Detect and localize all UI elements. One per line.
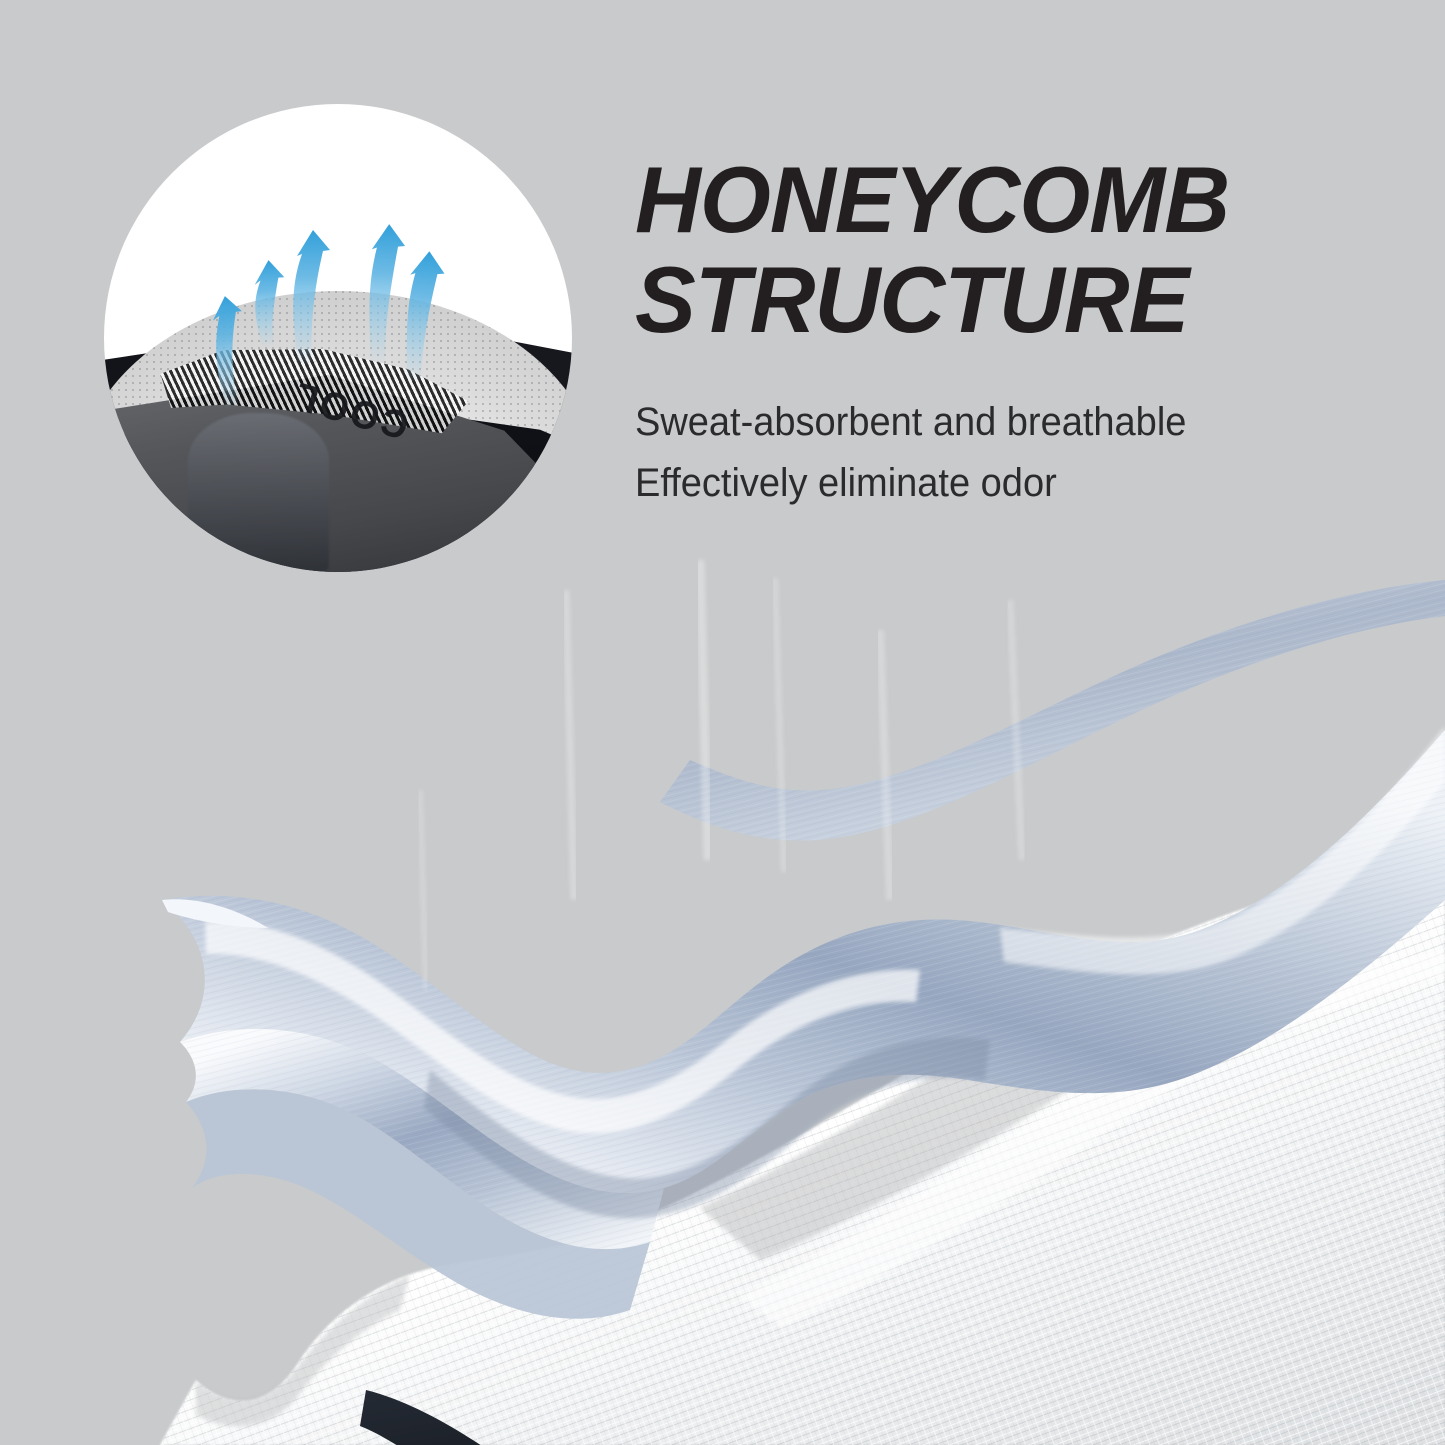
airflow-arrow-5 xyxy=(401,250,446,384)
airflow-arrow-4 xyxy=(366,223,406,366)
airflow-arrow-2 xyxy=(253,259,288,348)
page-title-line2: STRUCTURE xyxy=(635,252,1382,348)
airflow-arrow-1 xyxy=(209,294,254,409)
fabric-illustration xyxy=(0,430,1445,1445)
airflow-arrow-3 xyxy=(293,230,330,365)
fabric-waves-svg xyxy=(0,430,1445,1445)
product-feature-banner: COOL xyxy=(0,0,1445,1445)
page-title-line1: HONEYCOMB xyxy=(635,152,1382,248)
